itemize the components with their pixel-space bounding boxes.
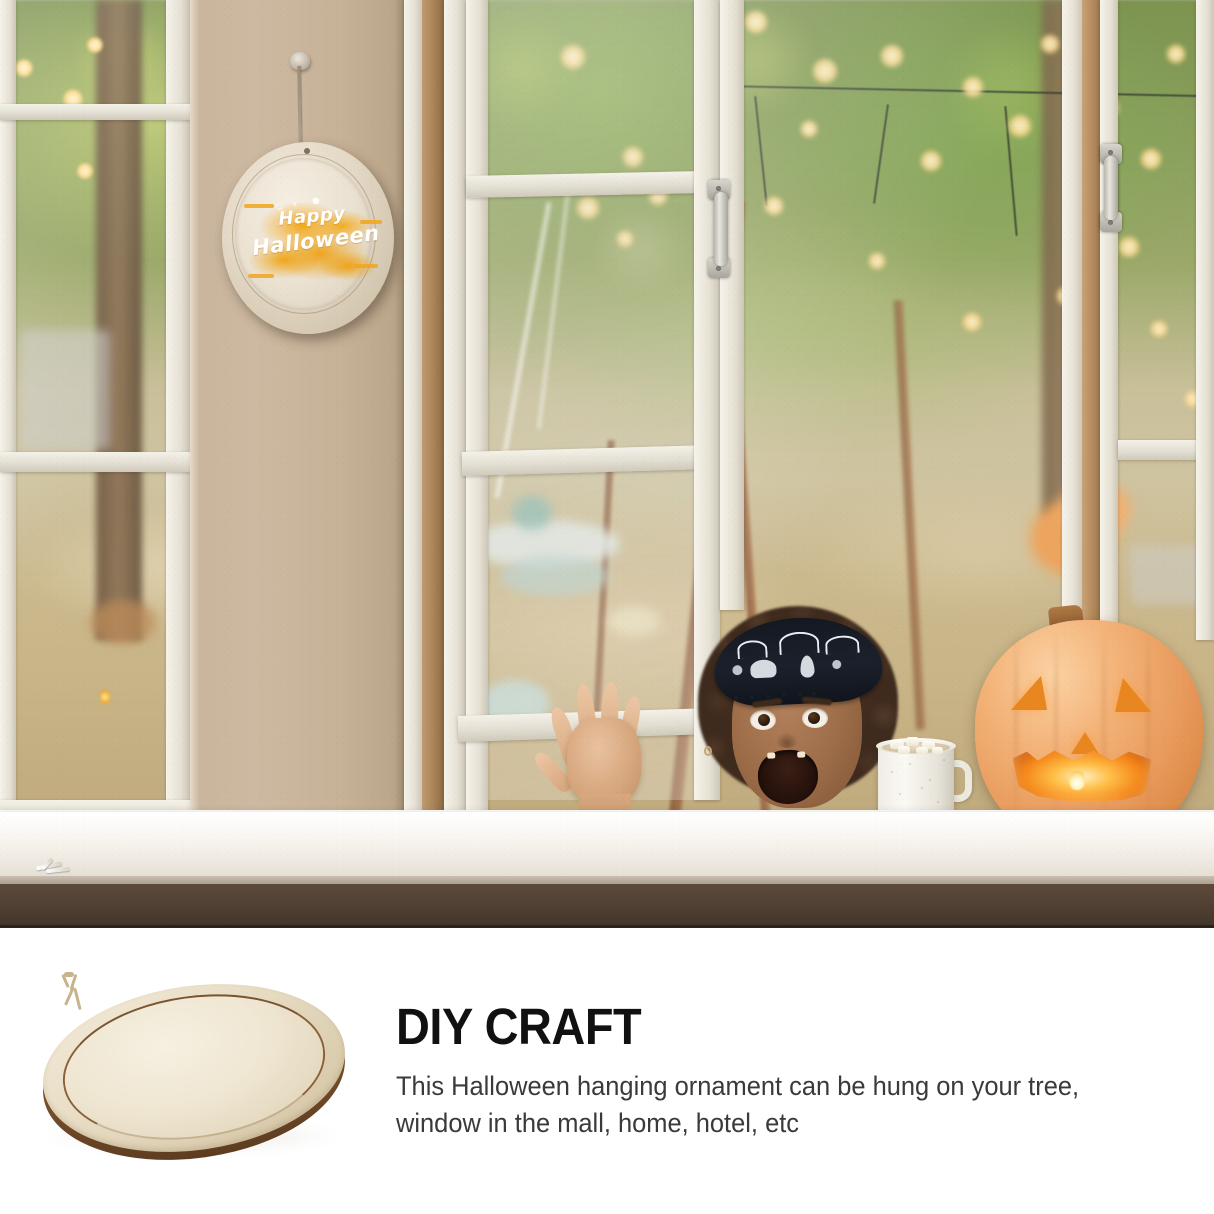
product-wooden-disc	[34, 966, 354, 1166]
window-muntin-left-top	[0, 104, 190, 120]
marshmallow	[932, 747, 943, 754]
light-bokeh	[962, 312, 982, 332]
brush-streak	[354, 264, 378, 268]
pumpkin-eye-left	[1011, 676, 1047, 710]
pumpkin-nose	[1071, 732, 1099, 754]
handle-screw	[1108, 150, 1113, 155]
wall-pillar-highlight	[190, 0, 200, 848]
light-wire-drop-2	[873, 104, 889, 203]
sill-underside	[0, 884, 1214, 928]
light-bokeh	[764, 196, 784, 216]
waving-hand	[545, 662, 665, 832]
light-bokeh	[1166, 44, 1186, 64]
eye-left	[750, 710, 776, 730]
light-bokeh	[744, 10, 768, 34]
window-mullion-left	[166, 0, 190, 862]
ornament-text: Happy Halloween	[252, 208, 372, 252]
sill-latch-hook-icon	[36, 862, 80, 874]
window-stile-right-3	[1100, 0, 1118, 660]
headline: DIY CRAFT	[396, 1000, 1095, 1054]
light-bokeh	[962, 76, 984, 98]
window-jamb-left	[404, 0, 422, 846]
description-text: This Halloween hanging ornament can be h…	[396, 1068, 1126, 1142]
window-stile-right-1	[720, 0, 744, 610]
window-frame-left-outer	[0, 0, 16, 880]
marshmallow	[916, 747, 928, 754]
window-handle-center[interactable]	[714, 192, 728, 266]
bandana-dot	[732, 665, 743, 676]
bandana-pattern-arc-left	[737, 640, 768, 660]
window-sill	[0, 812, 1214, 886]
info-panel: DIY CRAFT This Halloween hanging ornamen…	[0, 928, 1214, 1214]
handle-screw	[716, 186, 721, 191]
window-stile-right-2	[1062, 0, 1082, 700]
bandana-pattern-arc-mid	[779, 631, 820, 655]
light-wire-main	[700, 85, 1214, 98]
pumpkin-rib	[1147, 628, 1149, 828]
info-text-block: DIY CRAFT This Halloween hanging ornamen…	[396, 1000, 1156, 1142]
product-jute-string	[62, 972, 106, 1018]
lifestyle-photo: ☺ ˅ ☻ Happy Halloween	[0, 0, 1214, 928]
light-bulb	[14, 58, 34, 78]
palm	[567, 718, 641, 806]
light-bokeh	[1150, 320, 1168, 338]
pumpkin-rib	[1015, 628, 1017, 828]
pupil-left	[758, 714, 770, 726]
bandana-teardrop-right	[800, 655, 815, 678]
handle-screw	[1108, 220, 1113, 225]
pumpkin-eye-right	[1115, 678, 1151, 712]
halloween-hanging-ornament: ☺ ˅ ☻ Happy Halloween	[222, 142, 394, 334]
light-bokeh	[920, 150, 942, 172]
light-bokeh	[1118, 236, 1140, 258]
window-handle-right[interactable]	[1104, 156, 1118, 220]
ornament-hang-hole	[304, 148, 310, 154]
light-bulb	[86, 36, 104, 54]
tooth	[797, 751, 805, 757]
candle-flame	[1069, 770, 1085, 790]
marshmallow	[898, 746, 910, 754]
light-bokeh	[812, 58, 838, 84]
earring	[704, 746, 712, 756]
light-bokeh	[1040, 34, 1060, 54]
light-bokeh	[1008, 114, 1032, 138]
distant-candle-light	[100, 690, 110, 704]
light-wire-drop-1	[754, 96, 767, 206]
light-bokeh	[868, 252, 886, 270]
bandana-pattern-arc-right	[825, 635, 860, 655]
window-stile-right-4	[1196, 0, 1214, 640]
eye-right	[802, 708, 828, 728]
bandana-teardrop-left	[750, 659, 777, 678]
pupil-right	[808, 712, 820, 724]
brush-streak	[248, 274, 274, 278]
marshmallow	[906, 737, 919, 746]
product-listing-image: ☺ ˅ ☻ Happy Halloween	[0, 0, 1214, 1214]
wall-pillar	[190, 0, 404, 848]
light-bulb	[76, 162, 94, 180]
window-bare-wood-right	[1082, 0, 1102, 690]
light-bokeh	[1140, 148, 1162, 170]
window-muntin-left-mid	[0, 452, 190, 472]
nose	[776, 732, 798, 748]
handle-screw	[716, 266, 721, 271]
tooth	[767, 752, 775, 758]
bandana-dot	[832, 660, 841, 669]
window-jamb-bare-wood	[422, 0, 444, 840]
light-bokeh	[800, 120, 818, 138]
light-bokeh	[880, 44, 904, 68]
